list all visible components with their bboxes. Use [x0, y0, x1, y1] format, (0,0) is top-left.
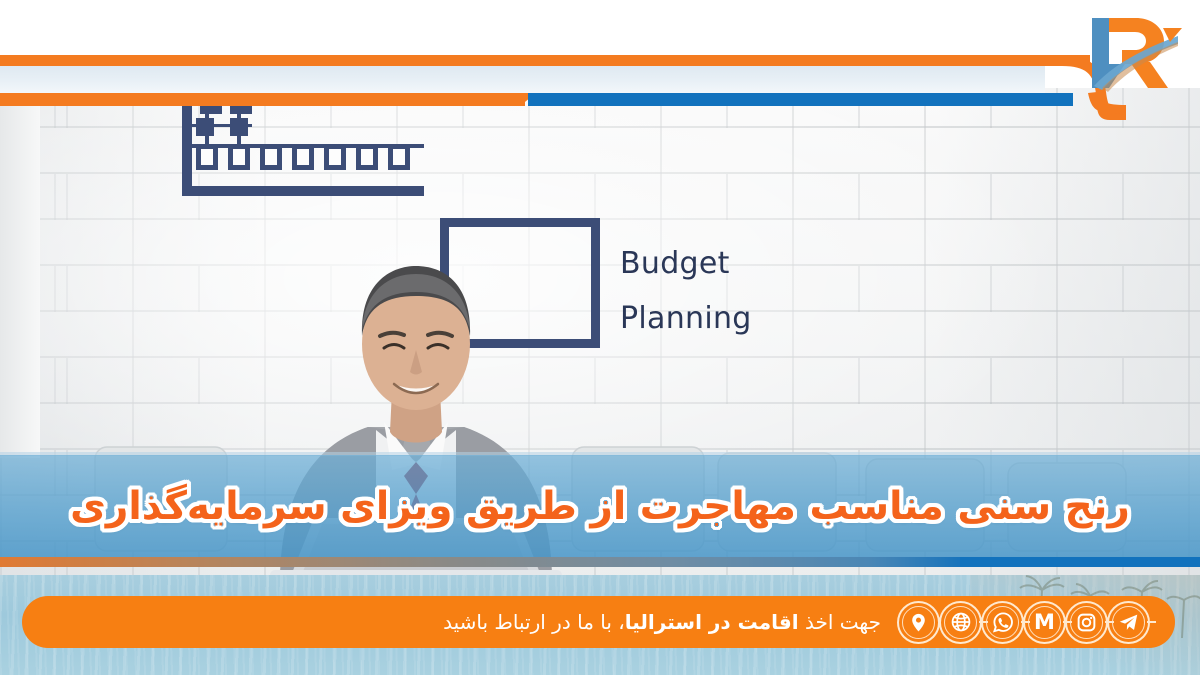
header-blue-mid-bar — [528, 93, 1073, 106]
location-pin-glyph — [908, 612, 929, 633]
contact-text-bold: اقامت در استرالیا — [625, 610, 799, 634]
telegram-glyph — [1118, 612, 1139, 633]
wall-text-line2: Planning — [620, 291, 920, 346]
contact-text: جهت اخذ اقامت در استرالیا، با ما در ارتب… — [443, 610, 887, 634]
banner-root: Budget Planning — [0, 0, 1200, 675]
contact-text-prefix: جهت اخذ — [799, 610, 881, 634]
globe-glyph — [950, 611, 972, 633]
globe-icon[interactable] — [939, 601, 982, 644]
stripe-gradient — [0, 557, 965, 567]
social-links: M — [897, 601, 1149, 644]
header-orange-top-bar — [0, 55, 1090, 66]
header-orange-mid-bar — [0, 93, 525, 106]
page-title: رنج سنی مناسب مهاجرت از طریق ویزای سرمای… — [0, 455, 1200, 557]
mail-m-letter: M — [1034, 612, 1055, 633]
wall-left-edge — [0, 88, 40, 458]
instagram-glyph — [1076, 612, 1097, 633]
raymond-r-logo — [1078, 8, 1182, 100]
header-decoration — [0, 0, 1200, 115]
whatsapp-glyph — [992, 611, 1014, 633]
stripe-blue — [960, 557, 1200, 567]
contact-bar[interactable]: جهت اخذ اقامت در استرالیا، با ما در ارتب… — [22, 596, 1175, 648]
wall-text: Budget Planning — [620, 236, 920, 346]
wall-text-line1: Budget — [620, 236, 920, 291]
contact-text-suffix: ، با ما در ارتباط باشید — [443, 610, 625, 634]
header-lightblue-band — [0, 66, 1045, 93]
location-pin-icon[interactable] — [897, 601, 940, 644]
